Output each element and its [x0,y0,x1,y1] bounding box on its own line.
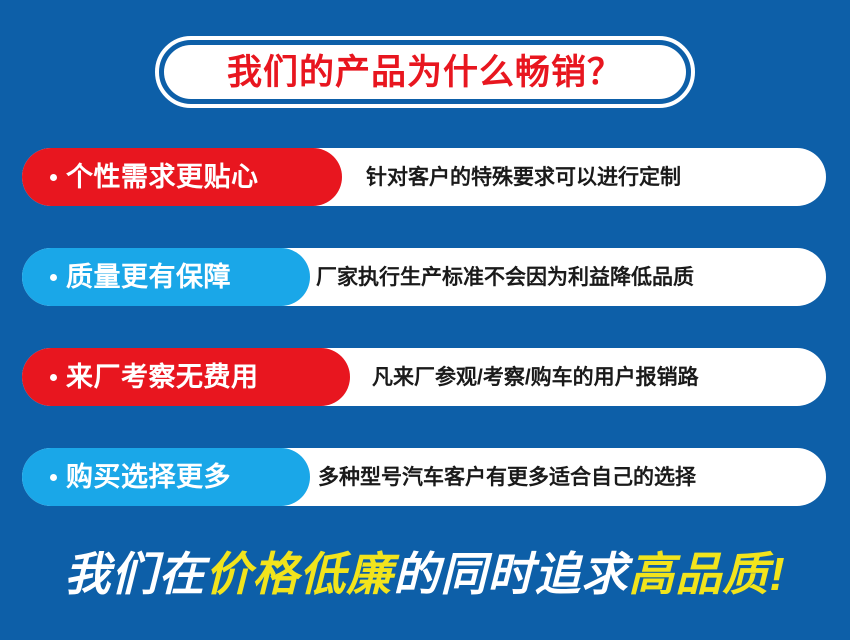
page-title: 我们的产品为什么畅销？ [227,55,623,90]
feature-row: 凡来厂参观/考察/购车的用户报销路 来厂考察无费用 [0,348,850,406]
title-inner-pill: 我们的产品为什么畅销？ [164,45,686,99]
footer-slogan-text: 我们在价格低廉的同时追求高品质! [64,551,785,597]
feature-description: 厂家执行生产标准不会因为利益降低品质 [316,248,694,306]
feature-label: 质量更有保障 [66,264,231,291]
feature-label-pill: 个性需求更贴心 [22,148,342,206]
feature-row: 针对客户的特殊要求可以进行定制 个性需求更贴心 [0,148,850,206]
bullet-dot-icon [50,474,57,481]
bullet-dot-icon [50,274,57,281]
footer-part-4: 高品质! [628,548,785,600]
feature-description: 针对客户的特殊要求可以进行定制 [366,148,681,206]
footer-part-2: 价格低廉 [205,548,393,600]
feature-label-pill: 来厂考察无费用 [22,348,350,406]
bullet-dot-icon [50,174,57,181]
footer-part-3: 的同时追求 [393,548,628,600]
feature-row: 厂家执行生产标准不会因为利益降低品质 质量更有保障 [0,248,850,306]
title-banner: 我们的产品为什么畅销？ [155,36,695,108]
feature-label: 购买选择更多 [66,464,231,491]
feature-description: 多种型号汽车客户有更多适合自己的选择 [318,448,696,506]
footer-part-1: 我们在 [64,548,205,600]
feature-list: 针对客户的特殊要求可以进行定制 个性需求更贴心 厂家执行生产标准不会因为利益降低… [0,148,850,548]
feature-label-pill: 购买选择更多 [22,448,310,506]
feature-label-pill: 质量更有保障 [22,248,310,306]
bullet-dot-icon [50,374,57,381]
feature-label: 个性需求更贴心 [66,164,259,191]
feature-label: 来厂考察无费用 [66,364,259,391]
footer-slogan: 我们在价格低廉的同时追求高品质! [0,543,850,605]
feature-row: 多种型号汽车客户有更多适合自己的选择 购买选择更多 [0,448,850,506]
feature-description: 凡来厂参观/考察/购车的用户报销路 [372,348,699,406]
